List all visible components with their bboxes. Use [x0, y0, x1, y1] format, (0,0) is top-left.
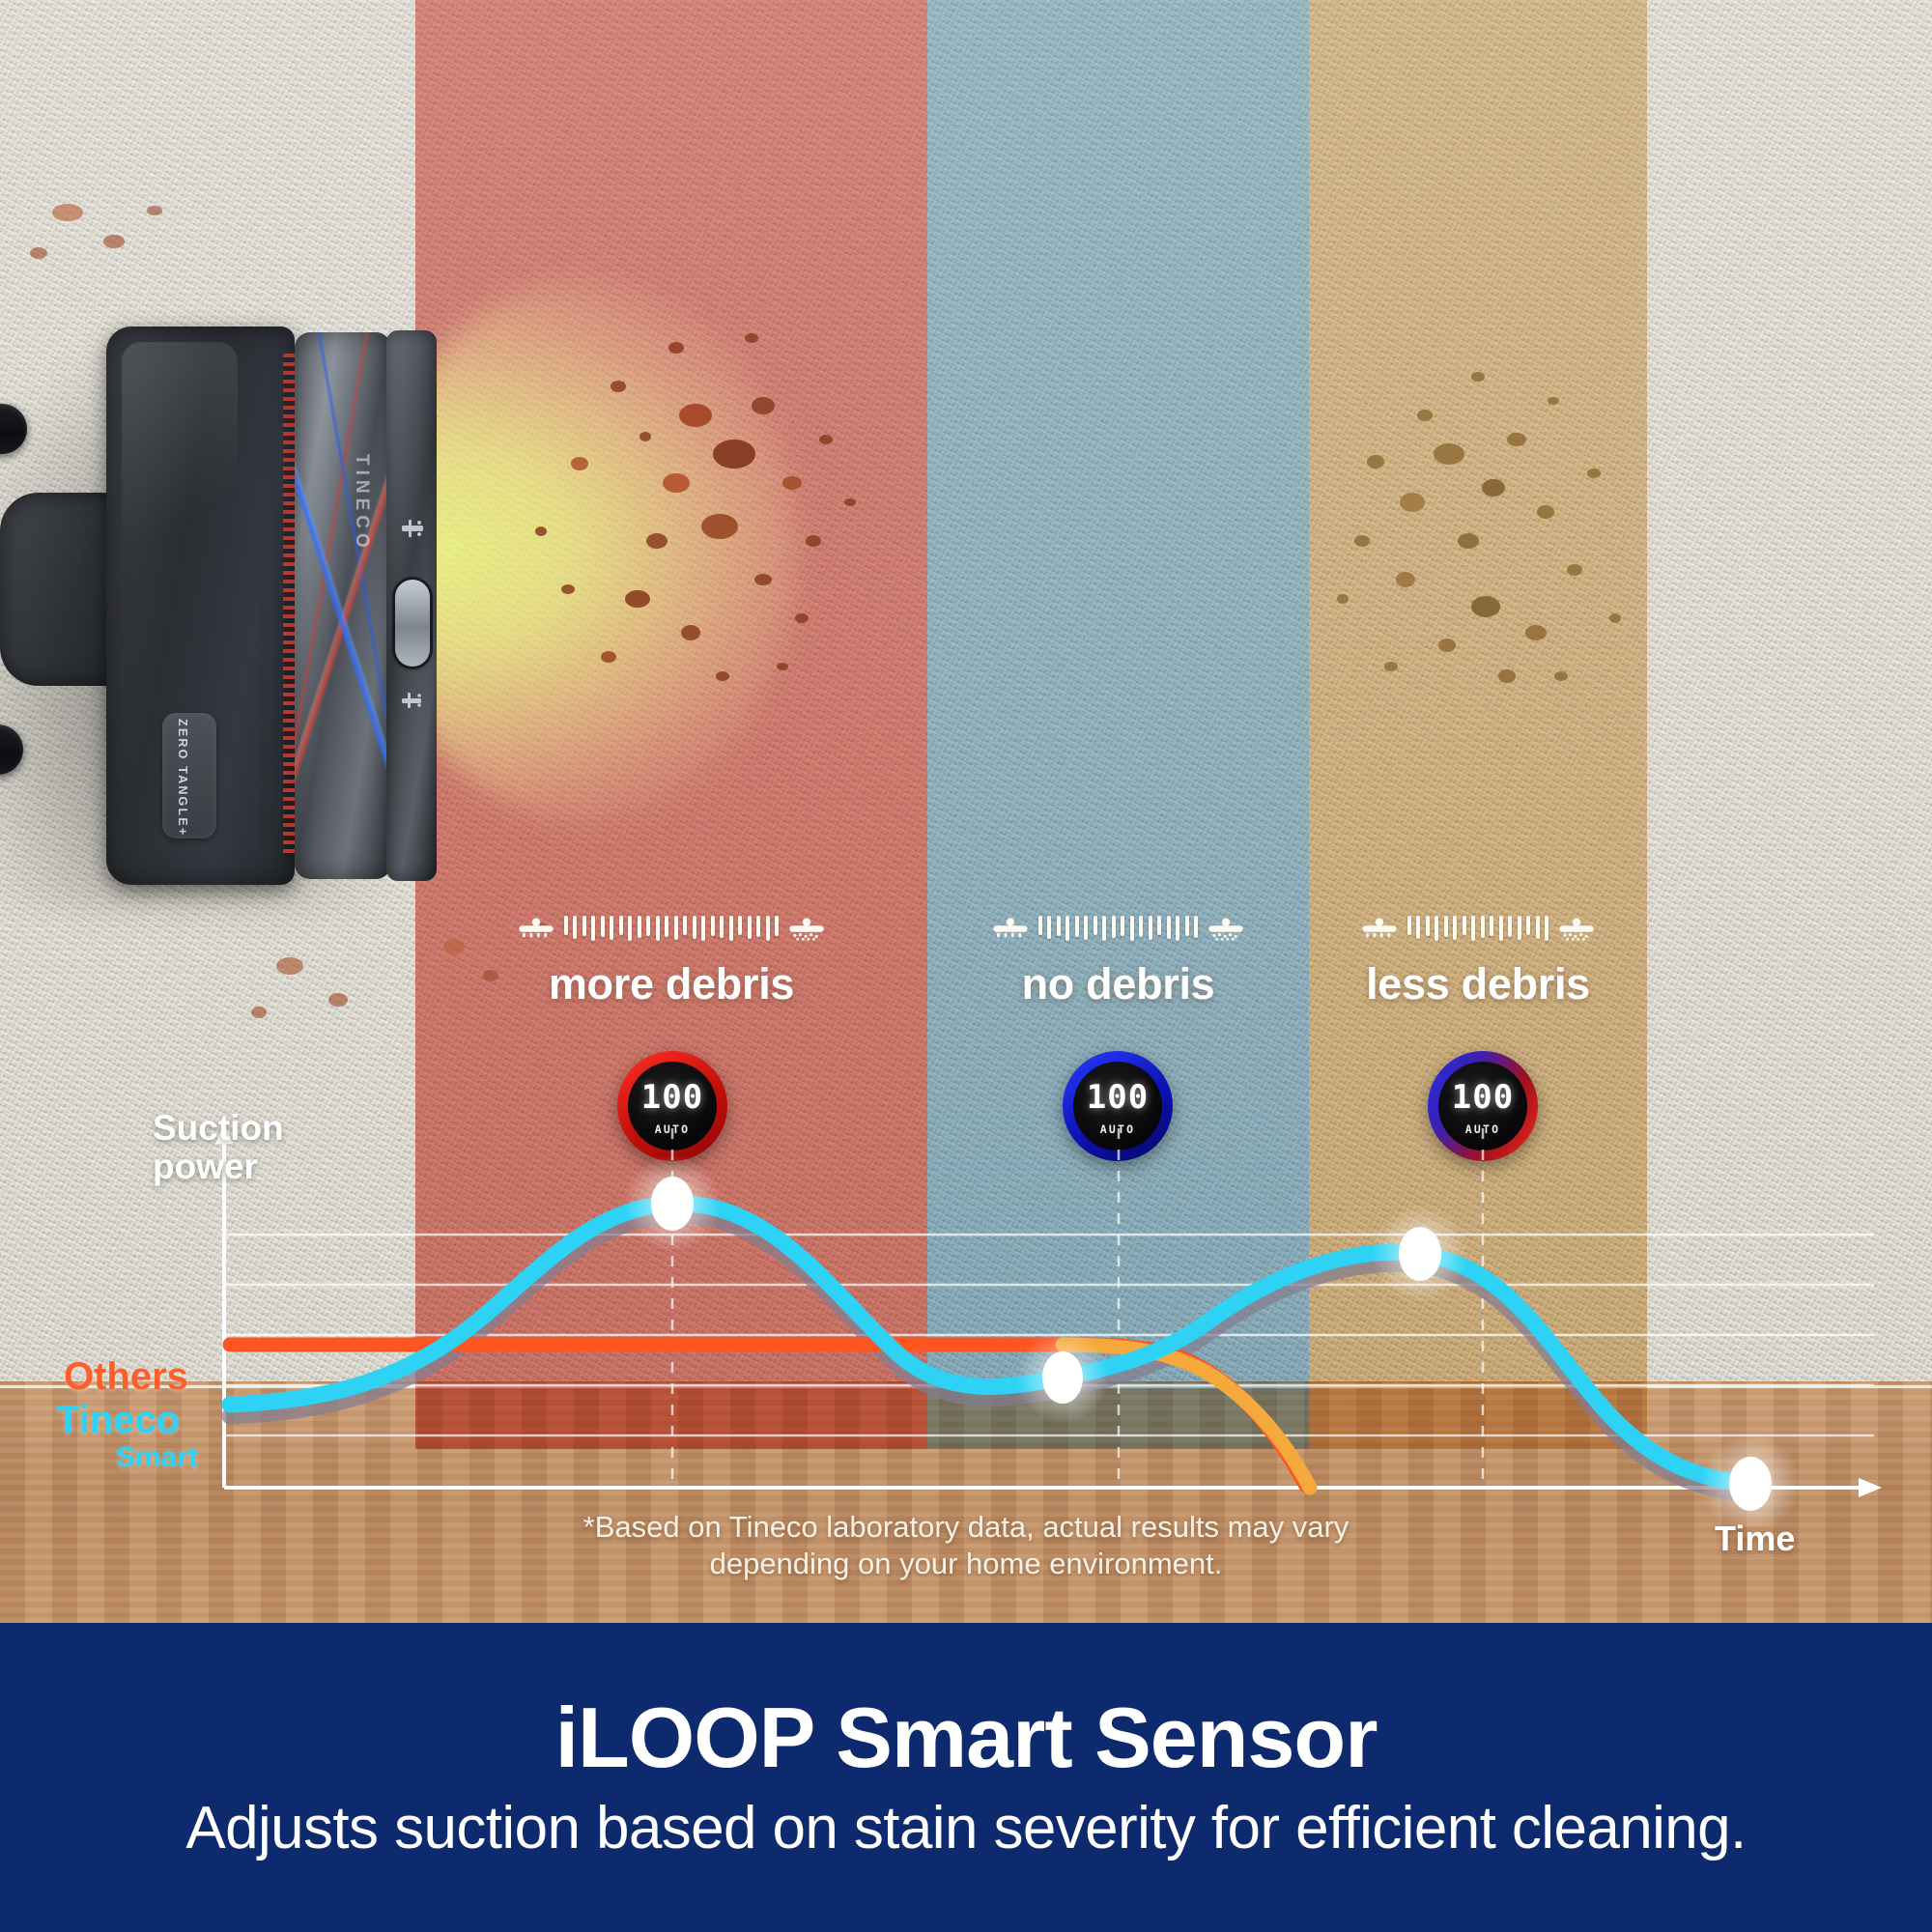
- vacuum-body-highlight: [122, 342, 238, 583]
- debris-meter-dashes: [564, 916, 780, 943]
- dial-value: 100: [1452, 1081, 1514, 1114]
- banner-subtitle: Adjusts suction based on stain severity …: [185, 1796, 1746, 1861]
- water-spray-icon: [398, 686, 427, 715]
- zone-less-debris: less debris: [1309, 913, 1647, 1009]
- product-feature-image: ZERO TANGLE+ TINECO: [0, 0, 1932, 1932]
- footnote-line-1: *Based on Tineco laboratory data, actual…: [0, 1509, 1932, 1546]
- zone-no-debris: no debris: [927, 913, 1309, 1009]
- brush-roller: [295, 332, 391, 879]
- x-axis-arrow: [1859, 1478, 1882, 1497]
- y-axis-label-line2: power: [153, 1147, 258, 1186]
- dial-value: 100: [1087, 1081, 1149, 1114]
- debris-meter-dashes: [1038, 916, 1199, 943]
- y-axis-label-line1: Suction: [153, 1108, 284, 1148]
- legend-smart: Smart: [116, 1441, 198, 1474]
- vacuum-head-dirty-icon: [1556, 917, 1597, 942]
- debris-meter-more: [415, 913, 927, 946]
- footnote-line-2: depending on your home environment.: [0, 1546, 1932, 1582]
- vacuum-head-clean-icon: [516, 917, 556, 942]
- zone-label-more-debris: more debris: [415, 959, 927, 1009]
- disclaimer-footnote: *Based on Tineco laboratory data, actual…: [0, 1509, 1932, 1582]
- debris-meter-dashes: [1407, 916, 1549, 943]
- zone-label-no-debris: no debris: [927, 959, 1309, 1009]
- zero-tangle-badge: ZERO TANGLE+: [162, 713, 216, 838]
- zone-label-less-debris: less debris: [1309, 959, 1647, 1009]
- vacuum-cleaner-head: ZERO TANGLE+ TINECO: [0, 309, 435, 908]
- brush-roller-pattern: [295, 332, 391, 879]
- brand-label: TINECO: [351, 454, 372, 553]
- series-shadow-line: [230, 1215, 1748, 1493]
- debris-meter-none: [927, 913, 1309, 946]
- vacuum-head-dirty-icon: [786, 917, 827, 942]
- dial-value: 100: [641, 1081, 703, 1114]
- legend-others: Others: [64, 1355, 188, 1399]
- chart-zone-markers: [672, 1128, 1483, 1488]
- legend-tineco: Tineco: [56, 1399, 180, 1442]
- zone-more-debris: more debris: [415, 913, 927, 1009]
- zero-tangle-label: ZERO TANGLE+: [176, 719, 189, 837]
- vacuum-head-clean-icon: [1359, 917, 1400, 942]
- power-slider[interactable]: [395, 580, 430, 667]
- vacuum-head-clean-icon: [990, 917, 1031, 942]
- chart-y-axis-label: Suction power: [153, 1109, 284, 1186]
- chart-svg: [0, 1111, 1932, 1526]
- suction-power-chart: [0, 1111, 1932, 1526]
- brush-roller-icon: [398, 514, 427, 543]
- bottom-banner: iLOOP Smart Sensor Adjusts suction based…: [0, 1623, 1932, 1932]
- vacuum-head-dirty-icon: [1206, 917, 1246, 942]
- debris-meter-less: [1309, 913, 1647, 946]
- banner-title: iLOOP Smart Sensor: [555, 1693, 1378, 1782]
